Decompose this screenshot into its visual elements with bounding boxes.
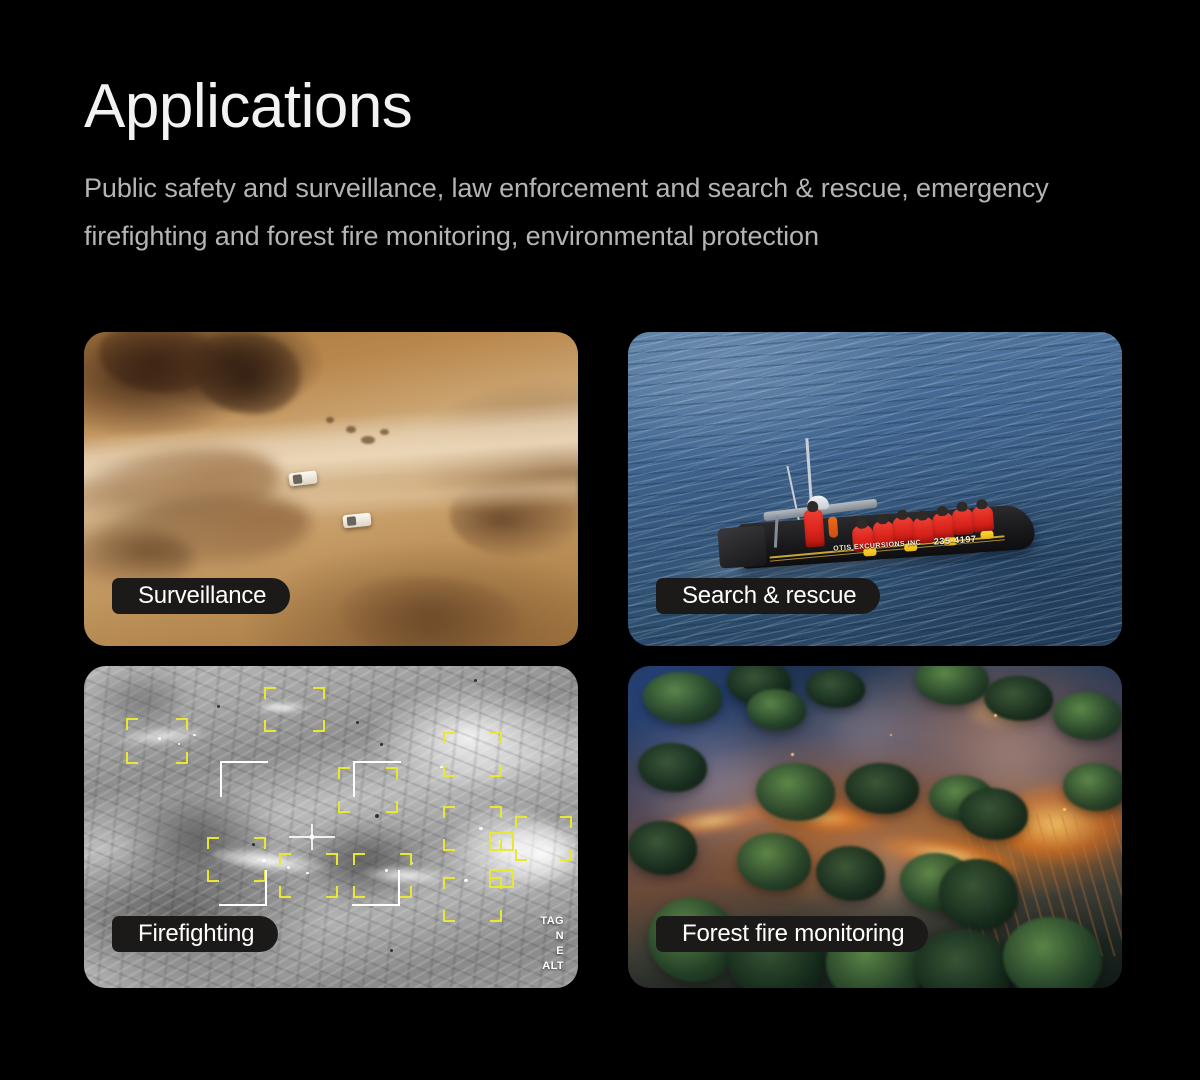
- cool-region: [84, 666, 183, 724]
- tree-canopy: [806, 669, 865, 708]
- application-card-surveillance[interactable]: Surveillance: [84, 332, 578, 646]
- hotspot-band: [440, 808, 568, 898]
- hud-readout: TAG N E ALT: [540, 914, 564, 974]
- card-label-surveillance: Surveillance: [112, 578, 290, 614]
- ember: [791, 753, 794, 756]
- application-card-forest-fire-monitoring[interactable]: Forest fire monitoring: [628, 666, 1122, 988]
- page-title: Applications: [84, 74, 1154, 140]
- hotspot: [440, 766, 443, 768]
- ember: [1063, 808, 1066, 811]
- tree-canopy: [1053, 692, 1122, 740]
- hud-readout-line: E: [540, 944, 564, 959]
- page-header: Applications Public safety and surveilla…: [84, 74, 1154, 260]
- hotspot: [464, 879, 468, 882]
- tree-canopy: [959, 788, 1028, 840]
- rubble: [361, 436, 375, 444]
- card-label-search-rescue: Search & rescue: [656, 578, 880, 614]
- tree-canopy: [638, 743, 707, 791]
- card-label-forest-fire-monitoring: Forest fire monitoring: [656, 916, 928, 952]
- card-label-firefighting: Firefighting: [112, 916, 278, 952]
- hud-readout-line: TAG: [540, 914, 564, 929]
- application-card-search-rescue[interactable]: OTIS EXCURSIONS INC 235-4197 Search & re…: [628, 332, 1122, 646]
- applications-page: Applications Public safety and surveilla…: [0, 0, 1200, 1080]
- hotspot: [499, 840, 502, 843]
- rescue-boat: OTIS EXCURSIONS INC 235-4197: [713, 440, 1057, 595]
- hotspot: [193, 734, 196, 736]
- ember: [890, 734, 892, 736]
- crew-member: [952, 508, 975, 535]
- ember: [994, 714, 997, 717]
- crew-member: [804, 508, 826, 547]
- orange-post: [828, 517, 838, 539]
- tree-canopy: [845, 763, 919, 815]
- tree-canopy: [628, 821, 697, 876]
- hud-readout-line: ALT: [540, 959, 564, 974]
- hotspot: [287, 866, 290, 869]
- life-vest: [980, 531, 994, 540]
- page-subtitle: Public safety and surveillance, law enfo…: [84, 164, 1154, 260]
- cold-speck: [356, 721, 359, 724]
- hotspot: [158, 737, 161, 740]
- applications-card-grid: Surveillance: [84, 332, 1122, 988]
- tree-canopy: [756, 763, 835, 821]
- crew-member: [972, 506, 995, 533]
- rubble: [326, 417, 334, 423]
- hud-readout-line: N: [540, 929, 564, 944]
- application-card-firefighting[interactable]: TAG N E ALT Firefighting: [84, 666, 578, 988]
- tree-canopy: [939, 859, 1018, 930]
- outboard-engine: [717, 526, 767, 569]
